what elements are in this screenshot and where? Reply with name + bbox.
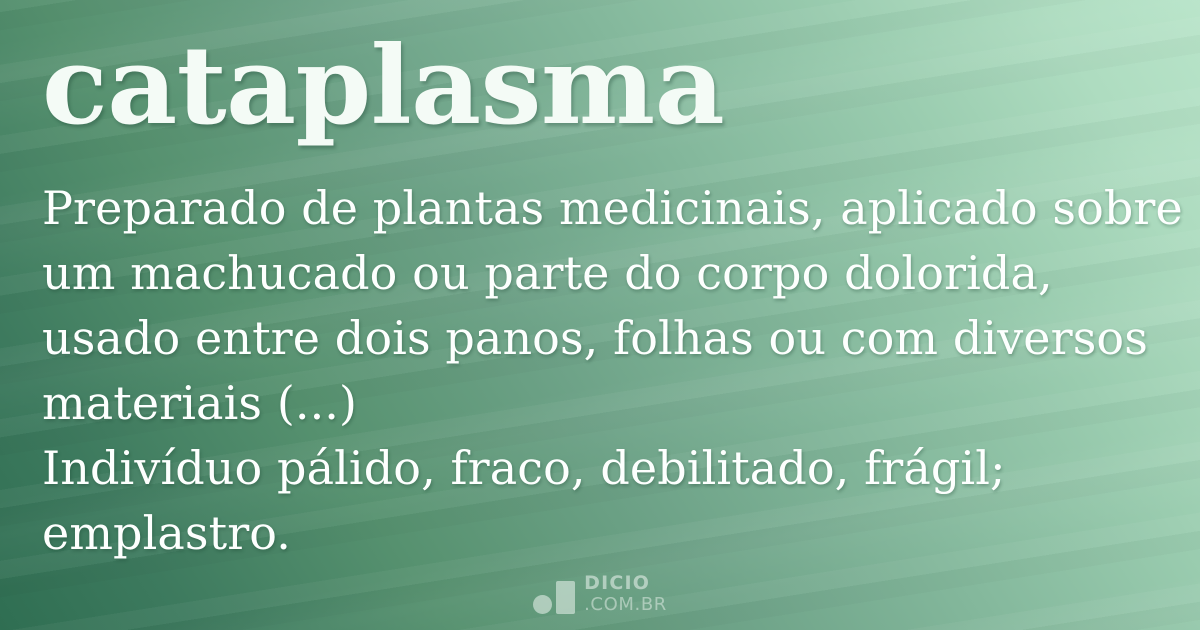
definition-block: Preparado de plantas medicinais, aplicad…	[42, 176, 1172, 566]
logo-circle-icon	[533, 595, 552, 614]
dicio-definition-card: cataplasma Preparado de plantas medicina…	[0, 0, 1200, 630]
definition-line: usado entre dois panos, folhas ou com di…	[42, 306, 1172, 371]
page-title: cataplasma	[42, 26, 724, 147]
definition-line: materiais (...)	[42, 371, 1172, 436]
logo-domain-suffix: .COM.BR	[584, 596, 667, 614]
definition-line: Preparado de plantas medicinais, aplicad…	[42, 176, 1172, 241]
definition-line: Indivíduo pálido, fraco, debilitado, frá…	[42, 436, 1172, 501]
card-content: cataplasma Preparado de plantas medicina…	[0, 0, 1200, 630]
logo-brand-name: DICIO	[584, 574, 667, 593]
definition-line: emplastro.	[42, 501, 1172, 566]
logo-bar-icon	[556, 581, 575, 614]
logo-mark-icon	[533, 580, 575, 614]
logo-wordmark: DICIO .COM.BR	[584, 574, 667, 614]
dicio-logo[interactable]: DICIO .COM.BR	[0, 574, 1200, 614]
definition-line: um machucado ou parte do corpo dolorida,	[42, 241, 1172, 306]
